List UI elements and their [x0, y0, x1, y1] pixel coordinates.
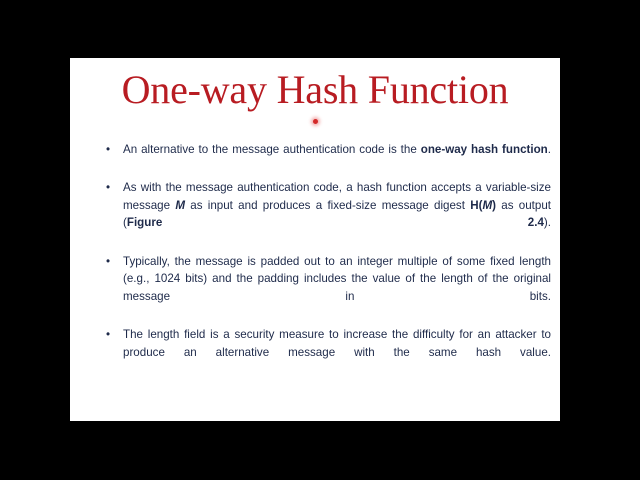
- list-item-text: The length field is a security measure t…: [123, 326, 551, 379]
- list-item-text: An alternative to the message authentica…: [123, 141, 551, 176]
- list-item-text: Typically, the message is padded out to …: [123, 253, 551, 323]
- page-title: One-way Hash Function: [70, 68, 560, 112]
- list-item: •Typically, the message is padded out to…: [100, 253, 551, 323]
- bullet-point-icon: •: [106, 253, 118, 271]
- list-item-text: As with the message authentication code,…: [123, 179, 551, 249]
- list-item: •As with the message authentication code…: [100, 179, 551, 249]
- slide-viewer: One-way Hash Function •An alternative to…: [0, 0, 640, 480]
- list-item: •An alternative to the message authentic…: [100, 141, 551, 176]
- bullet-point-icon: •: [106, 179, 118, 197]
- bullet-point-icon: •: [106, 141, 118, 159]
- bullet-point-icon: •: [106, 326, 118, 344]
- list-item: •The length field is a security measure …: [100, 326, 551, 379]
- title-decoration-dot-icon: [313, 119, 318, 124]
- slide-body: •An alternative to the message authentic…: [100, 141, 551, 379]
- presentation-slide: One-way Hash Function •An alternative to…: [70, 58, 560, 421]
